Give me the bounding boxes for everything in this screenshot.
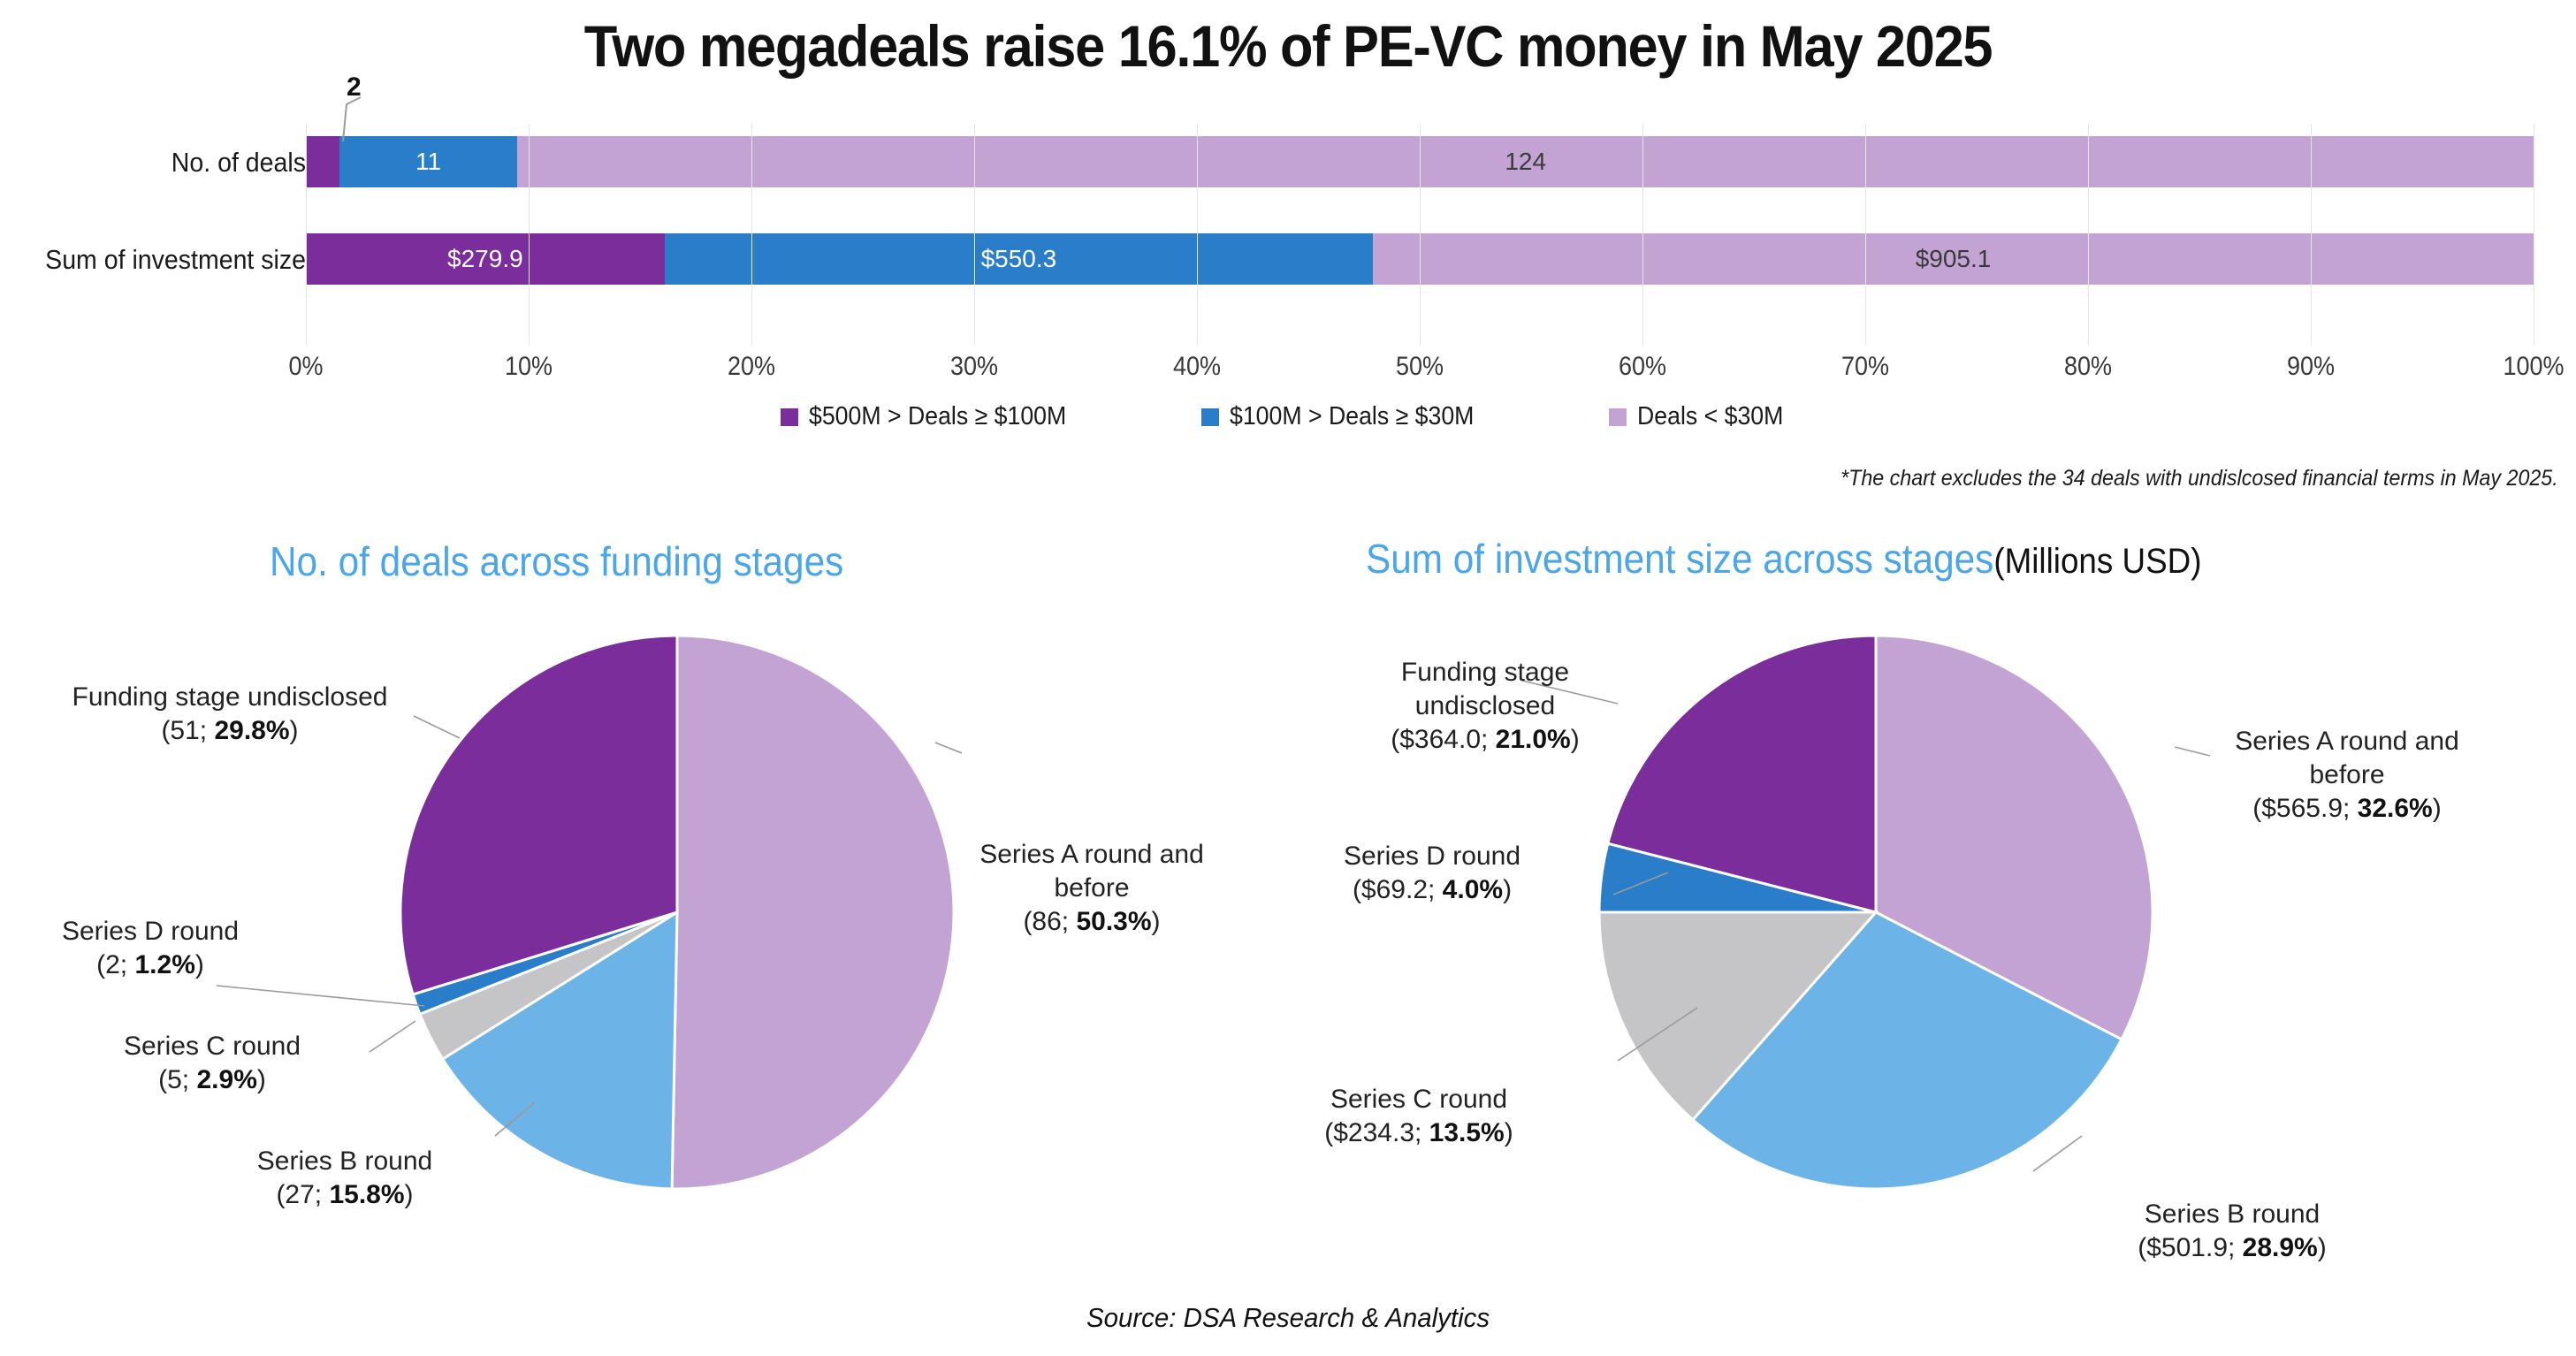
bar-chart-legend: $500M > Deals ≥ $100M$100M > Deals ≥ $30…	[0, 402, 2576, 431]
right-pie-label-series-a: Series A round and before ($565.9; 32.6%…	[2201, 725, 2493, 825]
left-pie-undisclosed-count: (51;	[161, 716, 214, 745]
bar-segment-investment-100m: $550.3	[665, 233, 1373, 285]
right-pie-label-undisclosed: Funding stage undisclosed ($364.0; 21.0%…	[1291, 656, 1680, 756]
right-section-heading: Sum of investment size across stages(Mil…	[1366, 535, 2201, 583]
right-pie-series-a-value: ($565.9;	[2252, 794, 2357, 823]
right-pie-series-b-value: ($501.9;	[2138, 1233, 2242, 1262]
left-pie-label-series-c-line1: Series C round	[80, 1030, 345, 1063]
right-pie-label-series-b-line1: Series B round	[2069, 1198, 2396, 1231]
legend-item[interactable]: $500M > Deals ≥ $100M	[781, 402, 1089, 431]
bar-axis-tick-label: 70%	[1841, 352, 1889, 382]
left-pie-series-c-count: (5;	[158, 1065, 196, 1094]
right-section-heading-unit: (Millions USD)	[1993, 542, 2201, 581]
left-pie-series-b-percent: 15.8%	[329, 1180, 404, 1209]
right-section-heading-text: Sum of investment size across stages	[1366, 536, 1993, 582]
legend-item-label: $100M > Deals ≥ $30M	[1230, 402, 1474, 431]
right-pie-series-c-percent: 13.5%	[1429, 1118, 1505, 1147]
right-pie-label-series-c-line2: ($234.3; 13.5%)	[1255, 1116, 1582, 1150]
bar-axis-tick-label: 60%	[1619, 352, 1666, 382]
chart-footnote: *The chart excludes the 34 deals with un…	[1841, 466, 2558, 491]
bar-axis-tick-label: 50%	[1396, 352, 1444, 382]
bar-gridline	[1642, 124, 1643, 345]
bar-segment-deals-30m: 124	[517, 136, 2534, 187]
left-pie-label-series-b-line2: (27; 15.8%)	[212, 1178, 477, 1212]
legend-item[interactable]: Deals < $30M	[1609, 402, 1796, 431]
left-pie-series-b-count: (27;	[276, 1180, 329, 1209]
right-pie-label-series-c-line1: Series C round	[1255, 1083, 1582, 1116]
right-pie-series-a-percent: 32.6%	[2358, 794, 2433, 823]
bar-x-axis: 0%10%20%30%40%50%60%70%80%90%100%	[306, 352, 2534, 392]
right-pie-label-series-d-line1: Series D round	[1273, 840, 1591, 873]
bar-gridline	[974, 124, 975, 345]
left-pie-label-undisclosed: Funding stage undisclosed (51; 29.8%)	[35, 681, 424, 748]
left-pie-label-series-c: Series C round (5; 2.9%)	[80, 1030, 345, 1097]
right-pie-series-b-percent: 28.9%	[2243, 1233, 2318, 1262]
left-pie-label-undisclosed-line1: Funding stage undisclosed	[35, 681, 424, 714]
right-pie-series-d-percent: 4.0%	[1443, 875, 1503, 904]
source-line: Source: DSA Research & Analytics	[65, 1302, 2511, 1334]
right-pie-label-undisclosed-line1: Funding stage	[1291, 656, 1680, 689]
bar-axis-tick-label: 80%	[2064, 352, 2112, 382]
bar-axis-tick-label: 10%	[505, 352, 553, 382]
bar-gridline	[1420, 124, 1421, 345]
left-pie-series-a-count: (86;	[1023, 907, 1076, 936]
right-pie-series-c-value: ($234.3;	[1324, 1118, 1429, 1147]
left-pie-label-series-b: Series B round (27; 15.8%)	[212, 1145, 477, 1212]
bar-gridline	[529, 124, 530, 345]
infographic-page: Two megadeals raise 16.1% of PE-VC money…	[0, 0, 2576, 1356]
bar-axis-tick-label: 100%	[2503, 352, 2564, 382]
bar-axis-tick-label: 40%	[1173, 352, 1221, 382]
left-pie-label-series-a-line2: before	[964, 872, 1220, 905]
left-pie-series-d-count: (2;	[96, 950, 134, 979]
legend-item-label: Deals < $30M	[1637, 402, 1783, 431]
bar-gridline	[1197, 124, 1198, 345]
right-pie-series-d-value: ($69.2;	[1353, 875, 1443, 904]
bar-row-label-deals: No. of deals	[0, 147, 306, 179]
right-pie-label-undisclosed-line3: ($364.0; 21.0%)	[1291, 723, 1680, 757]
left-section-heading-text: No. of deals across funding stages	[270, 538, 843, 584]
callout-leader-line	[292, 92, 398, 147]
bar-gridline	[751, 124, 752, 345]
right-pie-label-series-a-line1: Series A round and	[2201, 725, 2493, 758]
bar-row-label-investment: Sum of investment size	[0, 244, 306, 276]
right-pie-label-series-d: Series D round ($69.2; 4.0%)	[1273, 840, 1591, 907]
bar-axis-tick-label: 0%	[288, 352, 323, 382]
legend-swatch-icon	[781, 408, 798, 426]
legend-swatch-icon	[1609, 408, 1627, 426]
left-pie-undisclosed-percent: 29.8%	[214, 716, 289, 745]
right-pie-label-series-c: Series C round ($234.3; 13.5%)	[1255, 1083, 1582, 1150]
left-pie-label-series-d: Series D round (2; 1.2%)	[18, 915, 283, 982]
left-pie-label-series-c-line2: (5; 2.9%)	[80, 1063, 345, 1097]
bar-segment-investment-500m: $279.9	[306, 233, 665, 285]
bar-gridline	[306, 124, 307, 345]
left-section-heading: No. of deals across funding stages	[270, 537, 843, 585]
right-pie-label-series-d-line2: ($69.2; 4.0%)	[1273, 873, 1591, 907]
left-pie-label-series-d-line2: (2; 1.2%)	[18, 948, 283, 982]
left-pie-series-a-percent: 50.3%	[1076, 907, 1151, 936]
left-pie-label-series-b-line1: Series B round	[212, 1145, 477, 1178]
bar-segment-investment-30m: $905.1	[1373, 233, 2534, 285]
legend-item-label: $500M > Deals ≥ $100M	[809, 402, 1066, 431]
right-pie-undisclosed-value: ($364.0;	[1391, 725, 1495, 754]
right-pie-label-undisclosed-line2: undisclosed	[1291, 689, 1680, 723]
bar-plot-area: 11 124 $279.9 $550.3 $905.1	[306, 124, 2534, 345]
right-pie-label-series-b: Series B round ($501.9; 28.9%)	[2069, 1198, 2396, 1265]
bar-gridline	[2088, 124, 2089, 345]
bar-axis-tick-label: 90%	[2287, 352, 2335, 382]
left-pie-label-undisclosed-line2: (51; 29.8%)	[35, 714, 424, 748]
left-pie-label-series-a: Series A round and before (86; 50.3%)	[964, 838, 1220, 938]
left-pie-label-series-d-line1: Series D round	[18, 915, 283, 948]
right-pie-label-series-b-line2: ($501.9; 28.9%)	[2069, 1231, 2396, 1265]
bar-gridline	[1865, 124, 1866, 345]
legend-item[interactable]: $100M > Deals ≥ $30M	[1201, 402, 1495, 431]
right-pie-label-series-a-line2: before	[2201, 758, 2493, 792]
bar-axis-tick-label: 30%	[950, 352, 998, 382]
left-pie-label-series-a-line3: (86; 50.3%)	[964, 905, 1220, 939]
bar-gridline	[2311, 124, 2312, 345]
bar-gridline	[2534, 124, 2534, 345]
bar-axis-tick-label: 20%	[728, 352, 775, 382]
left-pie-label-series-a-line1: Series A round and	[964, 838, 1220, 872]
stacked-bar-chart: 11 124 $279.9 $550.3 $905.1 No. of deals…	[0, 124, 2576, 504]
right-pie-label-series-a-line3: ($565.9; 32.6%)	[2201, 792, 2493, 826]
page-title: Two megadeals raise 16.1% of PE-VC money…	[90, 12, 2486, 80]
left-pie-series-d-percent: 1.2%	[134, 950, 194, 979]
right-pie-undisclosed-percent: 21.0%	[1496, 725, 1571, 754]
left-pie-series-c-percent: 2.9%	[196, 1065, 256, 1094]
legend-swatch-icon	[1201, 408, 1219, 426]
